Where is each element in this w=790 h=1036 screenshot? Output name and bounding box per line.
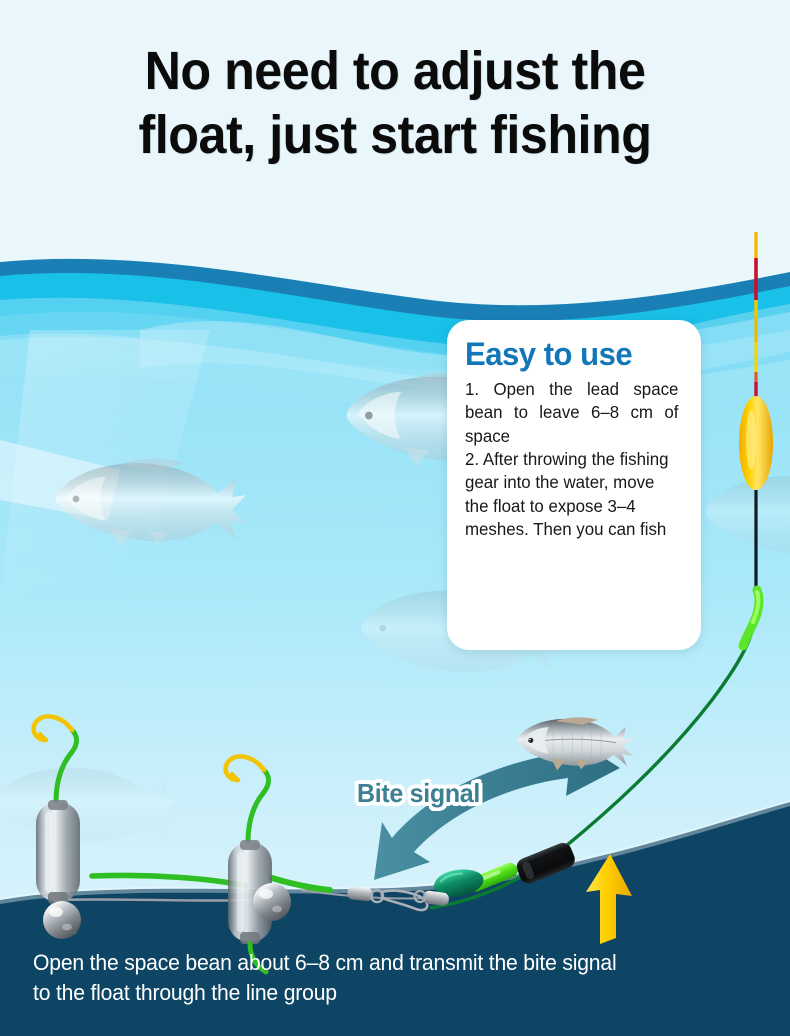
header-band: No need to adjust the float, just start …	[0, 0, 790, 232]
bottom-caption: Open the space bean about 6–8 cm and tra…	[33, 948, 719, 1008]
callout-step-1: 1. Open the lead space bean to leave 6–8…	[465, 378, 678, 448]
callout-step-2: 2. After throwing the fishing gear into …	[465, 448, 678, 541]
bite-signal-label: Bite signal	[357, 778, 480, 809]
ball-sinker	[253, 883, 291, 921]
infographic-canvas: No need to adjust the float, just start …	[0, 0, 790, 1036]
page-title: No need to adjust the float, just start …	[28, 40, 763, 167]
callout-body: 1. Open the lead space bean to leave 6–8…	[465, 378, 678, 541]
ball-sinker	[43, 901, 81, 939]
callout-heading: Easy to use	[465, 338, 678, 370]
easy-to-use-callout: Easy to use 1. Open the lead space bean …	[447, 320, 701, 650]
